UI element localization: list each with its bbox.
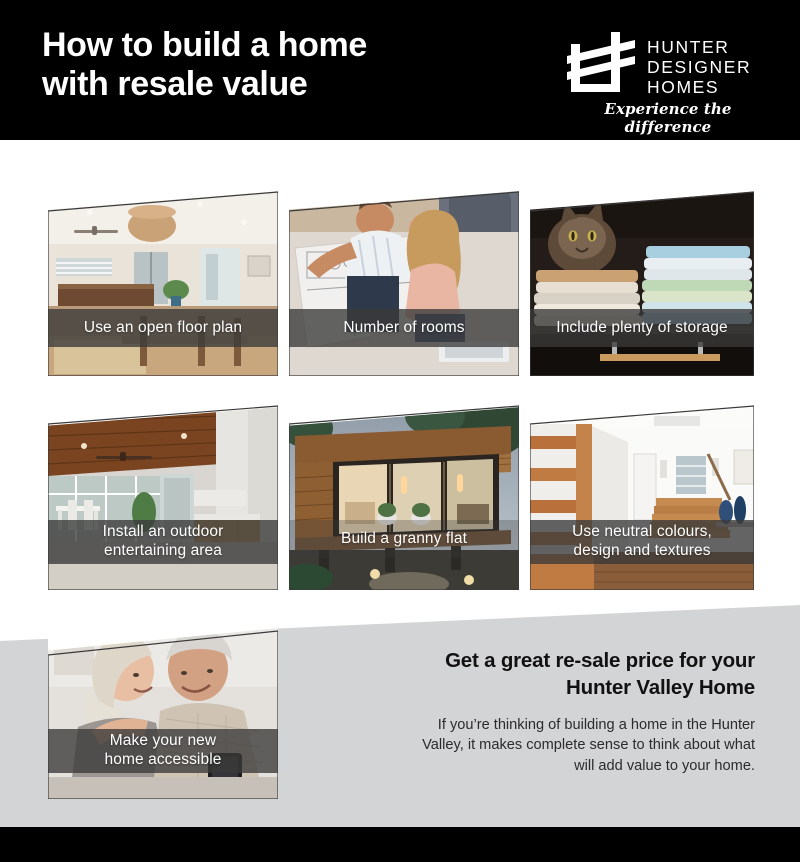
cat-on-towels-photo xyxy=(530,186,754,376)
logo-wordmark: HUNTER DESIGNER HOMES xyxy=(647,38,751,98)
page-title: How to build a home with resale value xyxy=(42,26,367,105)
card-caption-band: Number of rooms xyxy=(289,309,519,347)
open-plan-living-photo xyxy=(48,186,278,376)
logo-tagline: Experience the difference xyxy=(575,100,761,136)
cta-heading: Get a great re-sale price for your Hunte… xyxy=(355,648,755,701)
tip-card-neutral-colours[interactable]: Use neutral colours, design and textures xyxy=(530,402,754,590)
cta-block: Get a great re-sale price for your Hunte… xyxy=(355,648,755,776)
card-caption-band: Use an open floor plan xyxy=(48,309,278,347)
card-photo xyxy=(289,402,519,590)
header-banner: How to build a home with resale value HU… xyxy=(0,0,800,140)
card-photo xyxy=(48,627,278,799)
cta-body-text: If you’re thinking of building a home in… xyxy=(355,715,755,775)
card-caption: Build a granny flat xyxy=(341,530,467,549)
card-caption: Use an open floor plan xyxy=(84,319,242,338)
granny-flat-photo xyxy=(289,402,519,590)
footer-bar xyxy=(0,827,800,862)
tip-card-outdoor-entertaining-area[interactable]: Install an outdoor entertaining area xyxy=(48,402,278,590)
card-caption: Number of rooms xyxy=(343,319,464,338)
tip-card-granny-flat[interactable]: Build a granny flat xyxy=(289,402,519,590)
hunter-designer-homes-monogram-icon xyxy=(565,28,637,100)
card-caption: Use neutral colours, design and textures xyxy=(572,523,712,561)
tip-card-open-floor-plan[interactable]: Use an open floor plan xyxy=(48,186,278,376)
card-caption-band: Include plenty of storage xyxy=(530,309,754,347)
card-caption: Install an outdoor entertaining area xyxy=(103,523,224,561)
brand-logo: HUNTER DESIGNER HOMES Experience the dif… xyxy=(565,28,761,120)
couple-with-floor-plans-photo xyxy=(289,186,519,376)
tip-card-number-of-rooms[interactable]: Number of rooms xyxy=(289,186,519,376)
tip-card-plenty-of-storage[interactable]: Include plenty of storage xyxy=(530,186,754,376)
older-couple-photo xyxy=(48,627,278,799)
card-caption-band: Make your new home accessible xyxy=(48,729,278,773)
card-photo xyxy=(48,186,278,376)
card-caption: Include plenty of storage xyxy=(556,319,727,338)
card-caption-band: Build a granny flat xyxy=(289,520,519,558)
tip-card-accessible-home[interactable]: Make your new home accessible xyxy=(48,627,278,799)
infographic-page: How to build a home with resale value HU… xyxy=(0,0,800,862)
card-caption-band: Install an outdoor entertaining area xyxy=(48,520,278,564)
card-caption-band: Use neutral colours, design and textures xyxy=(530,520,754,564)
card-photo xyxy=(289,186,519,376)
card-photo xyxy=(530,186,754,376)
card-caption: Make your new home accessible xyxy=(105,732,222,770)
